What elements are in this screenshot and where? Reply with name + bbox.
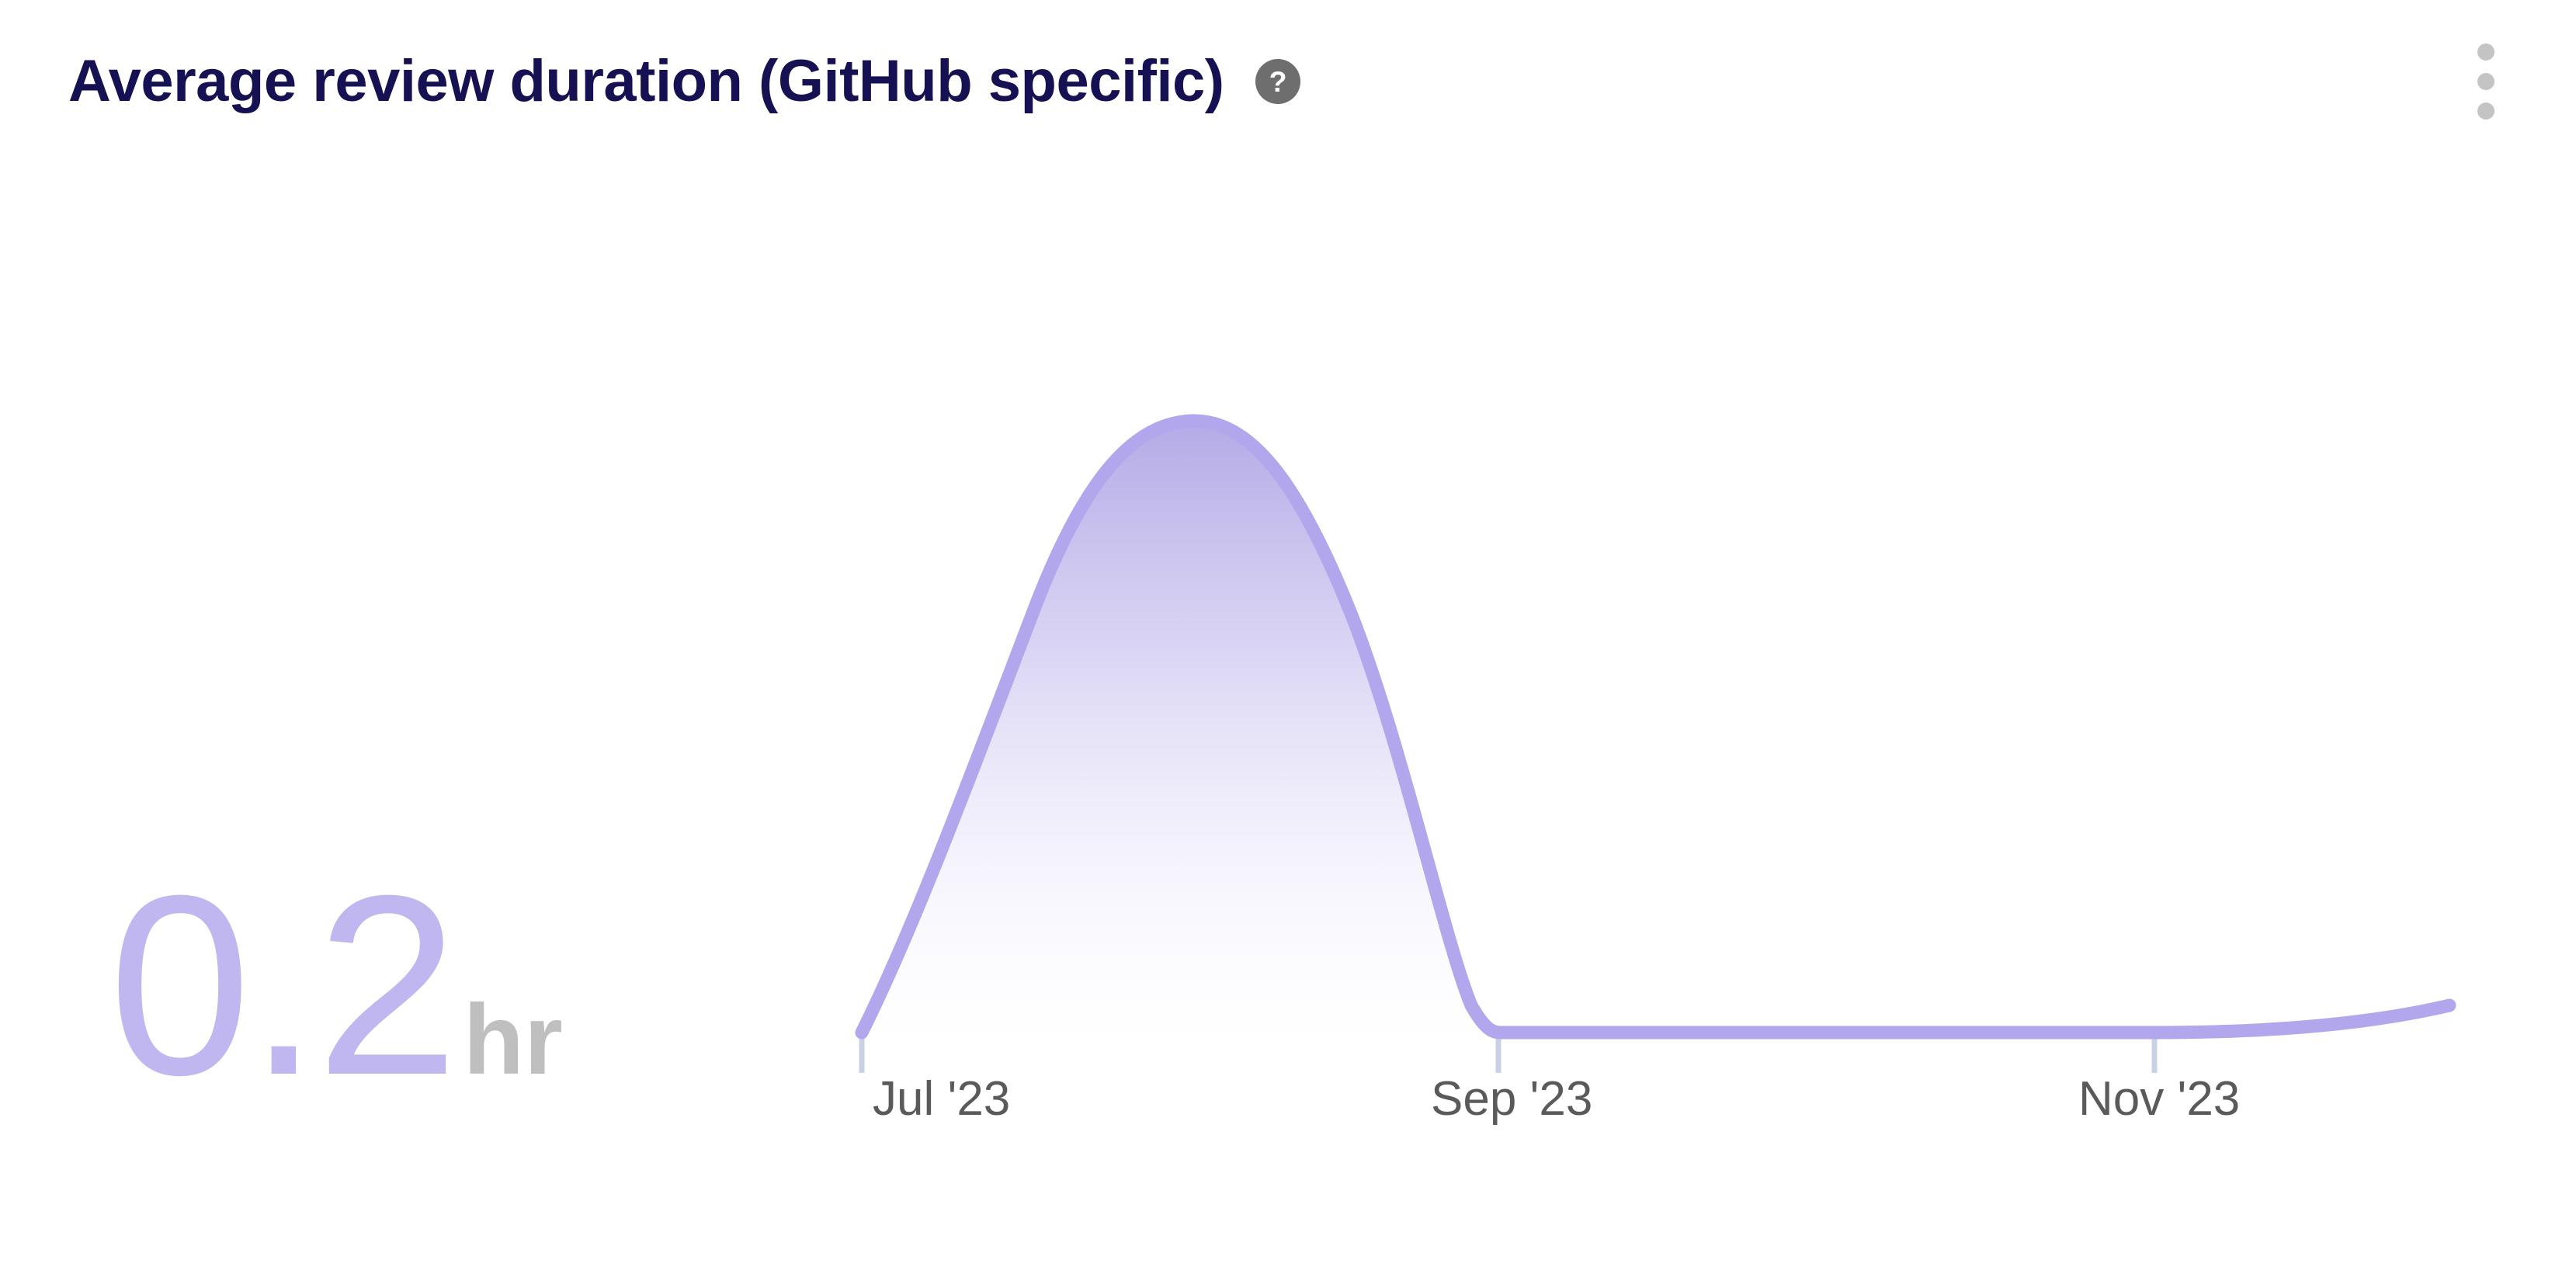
x-axis-label-0: Jul '23	[873, 1075, 1010, 1123]
x-axis-label-2: Nov '23	[2078, 1075, 2240, 1123]
card-header: Average review duration (GitHub specific…	[0, 0, 2576, 163]
metric-unit: hr	[463, 991, 563, 1090]
metric-value-block: 0.2 hr	[109, 885, 563, 1090]
kebab-dot-2	[2477, 73, 2494, 90]
svg-text:?: ?	[1269, 65, 1286, 98]
chart-area-fill	[862, 421, 2449, 1033]
x-axis-label-1: Sep '23	[1431, 1075, 1592, 1123]
page-title: Average review duration (GitHub specific…	[68, 52, 1224, 111]
kebab-menu-icon[interactable]	[2461, 39, 2511, 124]
card-header-left: Average review duration (GitHub specific…	[68, 52, 2461, 111]
chart-line	[862, 421, 2449, 1033]
kebab-dot-1	[2477, 43, 2494, 61]
kebab-dot-3	[2477, 102, 2494, 120]
x-axis-ticks	[862, 1033, 2154, 1073]
question-mark-circle-icon[interactable]: ?	[1255, 59, 1300, 104]
metric-value: 0.2	[109, 885, 456, 1085]
metric-card: Average review duration (GitHub specific…	[0, 0, 2576, 1267]
